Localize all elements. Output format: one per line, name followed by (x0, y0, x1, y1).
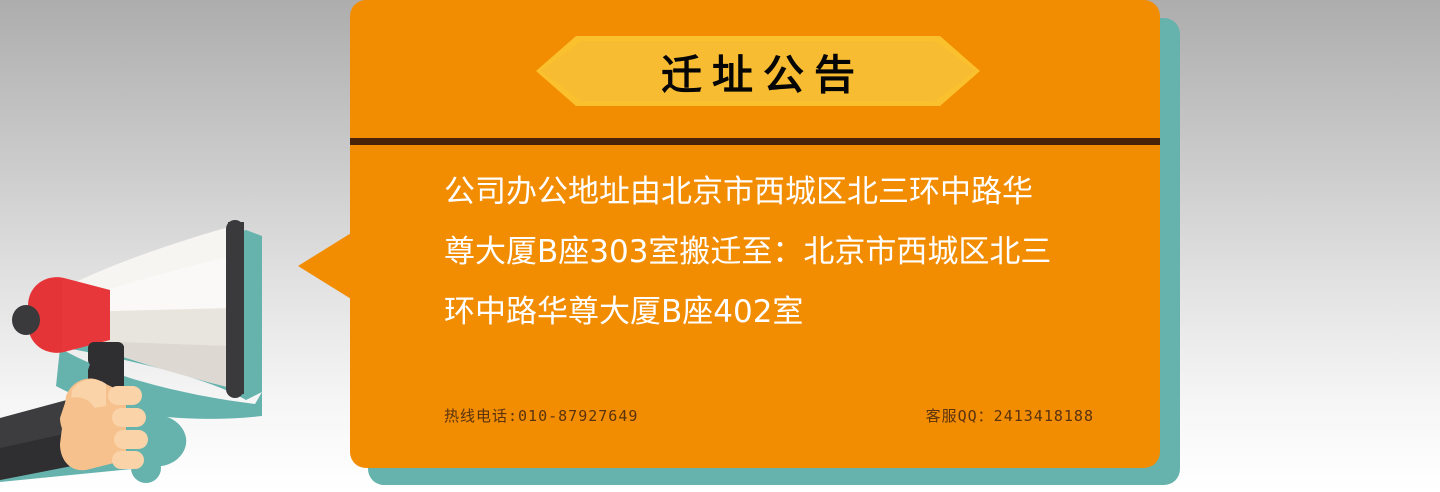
announcement-line: 环中路华尊大厦B座402室 (444, 282, 1094, 342)
announcement-line: 公司办公地址由北京市西城区北三环中路华 (444, 162, 1094, 222)
megaphone-illustration (0, 180, 310, 492)
header-divider (350, 138, 1160, 145)
qq-text: 客服QQ：2413418188 (926, 405, 1094, 426)
hotline-text: 热线电话:010-87927649 (444, 405, 638, 426)
card-tail (298, 230, 356, 302)
announcement-body: 公司办公地址由北京市西城区北三环中路华 尊大厦B座303室搬迁至：北京市西城区北… (444, 162, 1094, 342)
page-title: 迁址公告 (536, 36, 980, 106)
contact-footer: 热线电话:010-87927649 客服QQ：2413418188 (444, 405, 1094, 426)
megaphone-mouthpiece (12, 277, 110, 353)
announcement-line: 尊大厦B座303室搬迁至：北京市西城区北三 (444, 222, 1094, 282)
poster-canvas: 迁址公告 公司办公地址由北京市西城区北三环中路华 尊大厦B座303室搬迁至：北京… (0, 0, 1440, 492)
hand (60, 378, 148, 470)
megaphone-rim (226, 220, 244, 398)
